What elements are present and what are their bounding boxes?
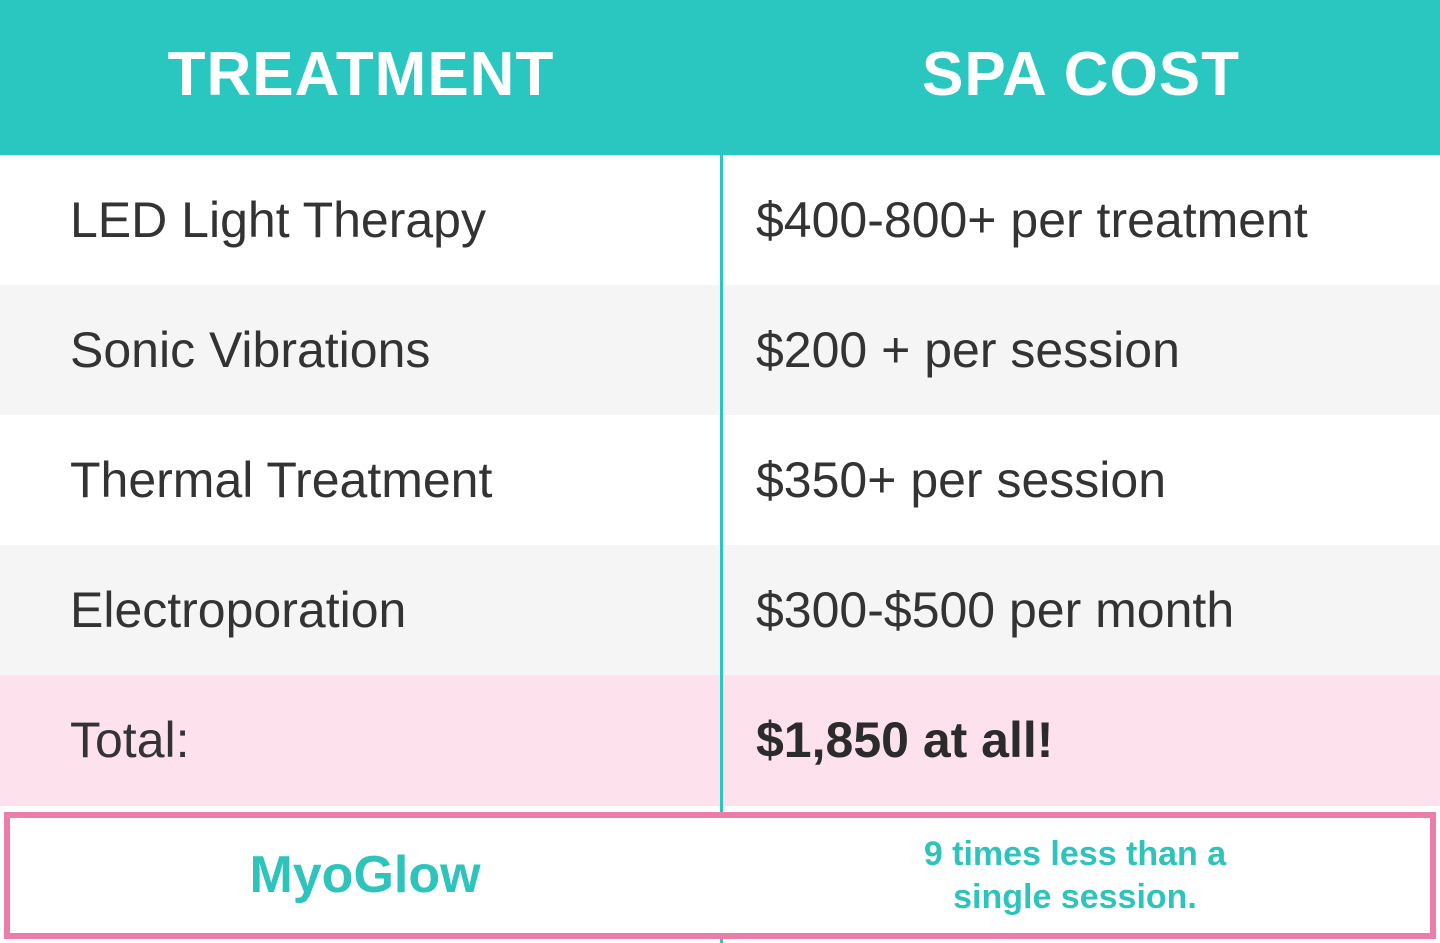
column-header-treatment: TREATMENT [0, 0, 722, 155]
cell-brand-name: MyoGlow [10, 818, 720, 933]
brand-claim-line-2: single session. [953, 878, 1197, 916]
cell-spa-cost: $300-$500 per month [722, 545, 1440, 675]
cell-brand-claim: 9 times less than a single session. [720, 818, 1430, 933]
table-row-highlight-myoglow: MyoGlow 9 times less than a single sessi… [4, 812, 1436, 939]
cell-spa-cost: $400-800+ per treatment [722, 155, 1440, 285]
cell-spa-cost: $350+ per session [722, 415, 1440, 545]
brand-claim-text: 9 times less than a single session. [924, 833, 1226, 918]
cell-treatment-name: Sonic Vibrations [0, 285, 722, 415]
table-header: TREATMENT SPA COST [0, 0, 1440, 155]
cell-total-label: Total: [0, 675, 722, 806]
brand-claim-line-1: 9 times less than a [924, 835, 1226, 873]
column-header-spa-cost: SPA COST [722, 0, 1440, 155]
cell-spa-cost: $200 + per session [722, 285, 1440, 415]
cell-treatment-name: Electroporation [0, 545, 722, 675]
spa-cost-comparison-table: TREATMENT SPA COST LED Light Therapy $40… [0, 0, 1440, 943]
cell-total-cost: $1,850 at all! [722, 675, 1440, 806]
cell-treatment-name: LED Light Therapy [0, 155, 722, 285]
cell-treatment-name: Thermal Treatment [0, 415, 722, 545]
